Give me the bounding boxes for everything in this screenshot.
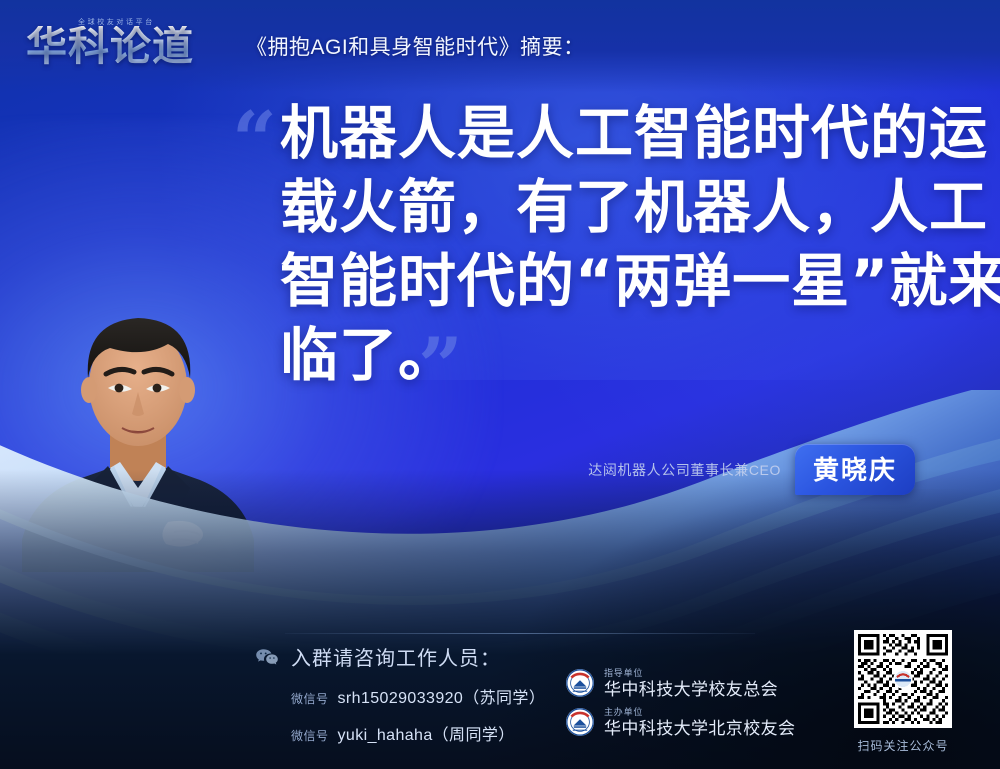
speaker-attribution: 达闼机器人公司董事长兼CEO 黄晓庆 — [588, 444, 915, 495]
speaker-role: 达闼机器人公司董事长兼CEO — [588, 460, 781, 480]
quote-line: 载火箭，有了机器人，人工 — [280, 170, 952, 244]
footer-heading: 入群请咨询工作人员： — [255, 642, 815, 671]
quote-open-mark: “ — [232, 102, 277, 180]
qr-block: 扫码关注公众号 — [843, 630, 963, 754]
quote-block: “ 机器人是人工智能时代的运 载火箭，有了机器人，人工 智能时代的“两弹一星”就… — [232, 96, 952, 392]
organization-name: 华中科技大学北京校友会 — [604, 720, 795, 737]
qr-caption: 扫码关注公众号 — [843, 737, 963, 754]
university-seal-icon — [565, 707, 595, 737]
quote-close-mark: ” — [418, 328, 463, 406]
organization-text: 主办单位 华中科技大学北京校友会 — [604, 708, 795, 737]
contact-value[interactable]: yuki_hahaha（周同学） — [338, 721, 515, 745]
brand-logo-text: 华科论道 — [26, 26, 194, 67]
footer-title: 入群请咨询工作人员： — [291, 642, 501, 671]
contact-label: 微信号 — [291, 727, 329, 744]
footer-divider — [285, 633, 755, 634]
quote-line: 临了。 — [280, 318, 952, 392]
quote-line: 机器人是人工智能时代的运 — [280, 96, 952, 170]
speaker-name-badge: 黄晓庆 — [795, 444, 915, 495]
poster-canvas: 全球校友对话平台 华科论道 《拥抱AGI和具身智能时代》摘要： “ 机器人是人工… — [0, 0, 1000, 769]
quote-line: 智能时代的“两弹一星”就来 — [280, 244, 952, 318]
wechat-icon — [255, 648, 279, 666]
organization-name: 华中科技大学校友总会 — [604, 681, 778, 698]
organization-kind: 指导单位 — [604, 669, 778, 678]
organization-text: 指导单位 华中科技大学校友总会 — [604, 669, 778, 698]
page-title: 《拥抱AGI和具身智能时代》摘要： — [246, 31, 585, 61]
quote-lines: 机器人是人工智能时代的运 载火箭，有了机器人，人工 智能时代的“两弹一星”就来 … — [280, 96, 952, 392]
organization-kind: 主办单位 — [604, 708, 795, 717]
organizations-block: 指导单位 华中科技大学校友总会 主办单位 华中科技大学北京校友会 — [565, 668, 795, 746]
qr-code-image[interactable] — [854, 630, 952, 728]
brand-logo[interactable]: 全球校友对话平台 华科论道 — [26, 17, 222, 75]
organization-row: 指导单位 华中科技大学校友总会 — [565, 668, 795, 698]
contact-label: 微信号 — [291, 690, 329, 707]
organization-row: 主办单位 华中科技大学北京校友会 — [565, 707, 795, 737]
header: 全球校友对话平台 华科论道 《拥抱AGI和具身智能时代》摘要： — [0, 0, 1000, 92]
contact-value[interactable]: srh15029033920（苏同学） — [338, 684, 546, 708]
university-seal-icon — [565, 668, 595, 698]
